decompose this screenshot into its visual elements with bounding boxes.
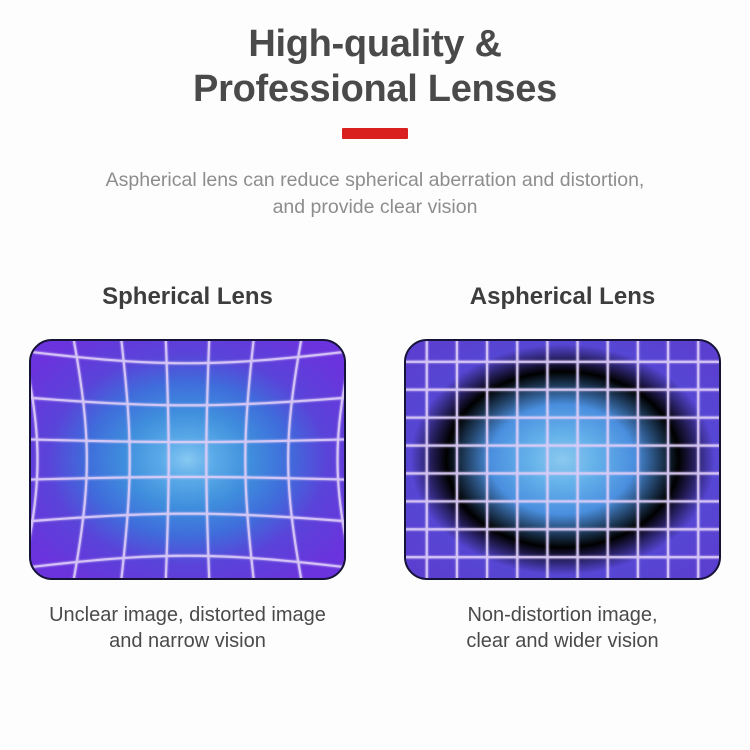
page-subtitle-line-2: and provide clear vision [20,194,730,222]
page-title-line-1: High-quality & [0,22,750,67]
header: High-quality & Professional Lenses Asphe… [0,0,750,222]
column-heading-aspherical: Aspherical Lens [470,283,655,311]
caption-spherical-line-1: Unclear image, distorted image [49,602,326,628]
comparison-column-spherical: Spherical Lens [0,283,375,654]
lens-comparison: Spherical Lens [0,283,750,654]
page-subtitle-line-1: Aspherical lens can reduce spherical abe… [20,167,730,195]
caption-aspherical-line-2: clear and wider vision [466,628,658,654]
lens-image-spherical [29,339,346,580]
page-title: High-quality & Professional Lenses [0,22,750,112]
column-heading-spherical: Spherical Lens [102,283,273,311]
product-feature-page: High-quality & Professional Lenses Asphe… [0,0,750,750]
comparison-column-aspherical: Aspherical Lens [375,283,750,654]
accent-divider-bar [342,128,408,139]
page-subtitle: Aspherical lens can reduce spherical abe… [20,167,730,222]
caption-aspherical: Non-distortion image, clear and wider vi… [466,602,658,654]
page-title-line-2: Professional Lenses [0,67,750,112]
caption-spherical: Unclear image, distorted image and narro… [49,602,326,654]
spherical-lens-grid-graphic [31,341,344,578]
aspherical-lens-grid-graphic [406,341,719,578]
caption-spherical-line-2: and narrow vision [49,628,326,654]
lens-image-aspherical [404,339,721,580]
caption-aspherical-line-1: Non-distortion image, [466,602,658,628]
